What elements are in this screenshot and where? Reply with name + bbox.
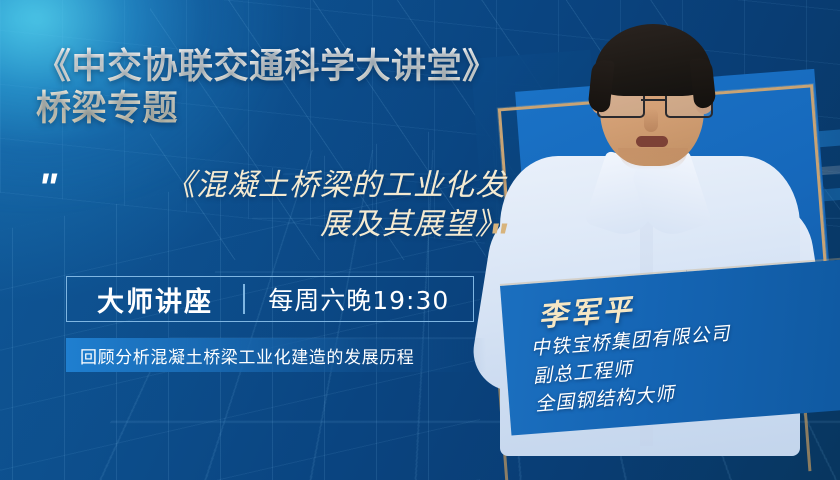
description-bar: 回顾分析混凝土桥梁工业化建造的发展历程 [66,338,486,372]
topic-line-2: 展及其展望》 [86,205,506,244]
lecture-info-box: 大师讲座 每周六晚19:30 [66,276,474,322]
quote-close-icon: " [488,218,507,258]
photo-hair-side-right [689,57,716,109]
headline-line-2: 桥梁专题 [36,88,506,130]
topic-line-1: 《混凝土桥梁的工业化发 [86,166,506,205]
photo-mouth [636,136,668,147]
description-text: 回顾分析混凝土桥梁工业化建造的发展历程 [66,343,414,368]
quote-open-icon: " [38,168,57,208]
lecture-poster: 《中交协联交通科学大讲堂》 桥梁专题 " 《混凝土桥梁的工业化发 展及其展望》 … [0,0,840,480]
topic-quote-block: " 《混凝土桥梁的工业化发 展及其展望》 " [36,166,516,266]
photo-chin-shadow [618,148,688,170]
lecture-type-label: 大师讲座 [67,280,243,319]
headline-line-1: 《中交协联交通科学大讲堂》 [36,47,498,87]
page-title: 《中交协联交通科学大讲堂》 桥梁专题 [36,46,506,130]
photo-glasses-bridge [641,99,665,101]
topic-title: 《混凝土桥梁的工业化发 展及其展望》 [86,166,506,244]
speaker-info-text: 李军平 中铁宝桥集团有限公司 副总工程师 全国钢结构大师 [500,258,840,445]
lecture-schedule-label: 每周六晚19:30 [245,281,474,317]
